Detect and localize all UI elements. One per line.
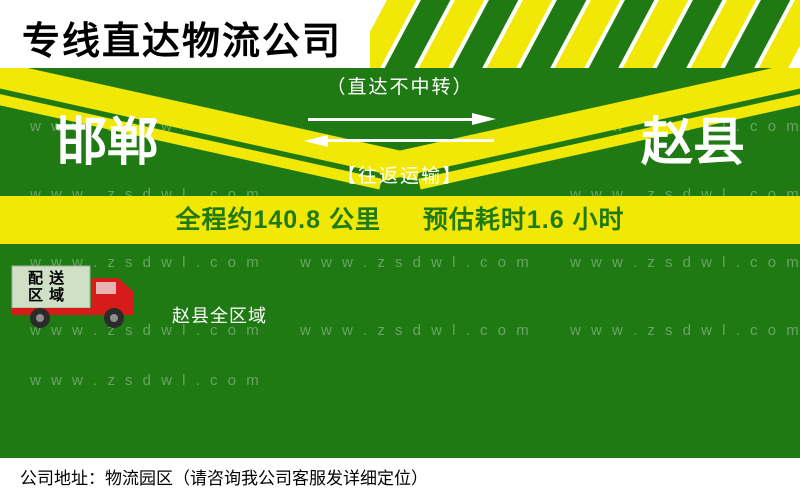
watermark-text: w w w . z s d w l . c o m bbox=[300, 254, 532, 271]
truck-label-line2: 区 域 bbox=[28, 287, 74, 304]
double-arrow-icon bbox=[280, 113, 520, 149]
logistics-banner: w w w . z s d w l . c o m w w w . z s d … bbox=[0, 0, 800, 500]
truck-label: 配 送 区 域 bbox=[28, 270, 74, 304]
watermark-text: w w w . z s d w l . c o m bbox=[300, 322, 532, 339]
address-value: 物流园区（请咨询我公司客服发详细定位） bbox=[105, 469, 428, 488]
watermark-text: w w w . z s d w l . c o m bbox=[30, 372, 262, 389]
destination-city: 赵县 bbox=[641, 100, 745, 175]
duration-value: 预估耗时1.6 小时 bbox=[423, 206, 625, 234]
header-stripes bbox=[370, 0, 800, 68]
truck-label-line1: 配 送 bbox=[28, 270, 74, 287]
delivery-truck-group: 配 送 区 域 bbox=[10, 258, 160, 330]
distance-value: 全程约140.8 公里 bbox=[175, 206, 381, 234]
page-title: 专线直达物流公司 bbox=[22, 10, 342, 65]
watermark-text: w w w . z s d w l . c o m bbox=[570, 254, 800, 271]
stats-text: 全程约140.8 公里 预估耗时1.6 小时 bbox=[0, 196, 800, 244]
roundtrip-note: 【往返运输】 bbox=[280, 161, 520, 188]
address-label: 公司地址： bbox=[20, 469, 105, 488]
direct-route-note: （直达不中转） bbox=[280, 72, 520, 99]
watermark-text: w w w . z s d w l . c o m bbox=[570, 322, 800, 339]
delivery-area-text: 赵县全区域 bbox=[172, 302, 267, 328]
route-middle-group: （直达不中转） 【往返运输】 bbox=[280, 72, 520, 188]
company-address: 公司地址：物流园区（请咨询我公司客服发详细定位） bbox=[20, 458, 428, 500]
origin-city: 邯郸 bbox=[55, 100, 159, 175]
